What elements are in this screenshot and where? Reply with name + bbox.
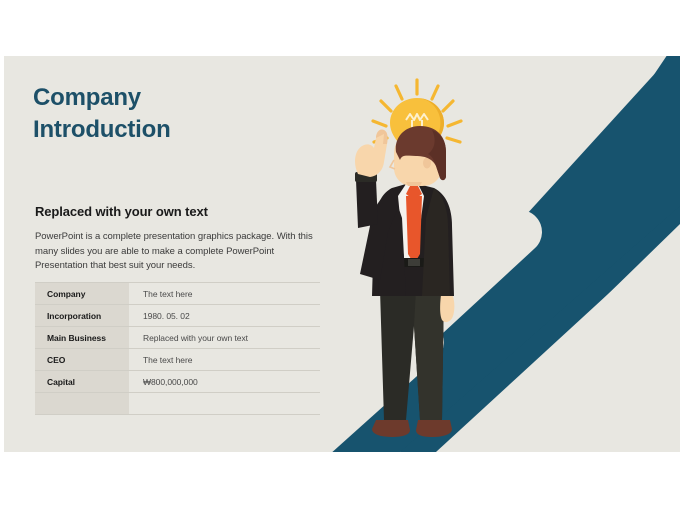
page-title-line-1: Company: [33, 82, 333, 114]
lede-heading: Replaced with your own text: [35, 204, 327, 219]
table-row-label: Incorporation: [35, 305, 129, 327]
lede-block: Replaced with your own text PowerPoint i…: [35, 204, 327, 274]
table-row-value: The text here: [129, 283, 320, 305]
lede-paragraph: PowerPoint is a complete presentation gr…: [35, 230, 327, 274]
pointing-hand: [355, 129, 388, 177]
left-shoe: [372, 420, 410, 437]
table-row-label: Capital: [35, 371, 129, 393]
company-spec-table: Company The text here Incorporation 1980…: [35, 282, 320, 415]
table-row-value: [129, 393, 320, 415]
page-title: Company Introduction: [33, 82, 333, 146]
slide-page: Company Introduction Replaced with your …: [0, 0, 680, 510]
necktie: [406, 196, 422, 264]
table-row-label: CEO: [35, 349, 129, 371]
table-row: CEO The text here: [35, 349, 320, 371]
table-row-value: Replaced with your own text: [129, 327, 320, 349]
table-row-empty: [35, 393, 320, 415]
page-title-line-2: Introduction: [33, 114, 333, 146]
businessman-pointing-up-icon: [332, 68, 492, 452]
table-row-label: [35, 393, 129, 415]
slide-canvas: Company Introduction Replaced with your …: [4, 56, 680, 452]
right-shoe: [416, 420, 452, 437]
table-row-label: Main Business: [35, 327, 129, 349]
table-row-label: Company: [35, 283, 129, 305]
table-row: Incorporation 1980. 05. 02: [35, 305, 320, 327]
table-row-value: 1980. 05. 02: [129, 305, 320, 327]
table-row: Company The text here: [35, 283, 320, 305]
table-row-value: ₩800,000,000: [129, 371, 320, 393]
table-row: Main Business Replaced with your own tex…: [35, 327, 320, 349]
table-row: Capital ₩800,000,000: [35, 371, 320, 393]
table-row-value: The text here: [129, 349, 320, 371]
